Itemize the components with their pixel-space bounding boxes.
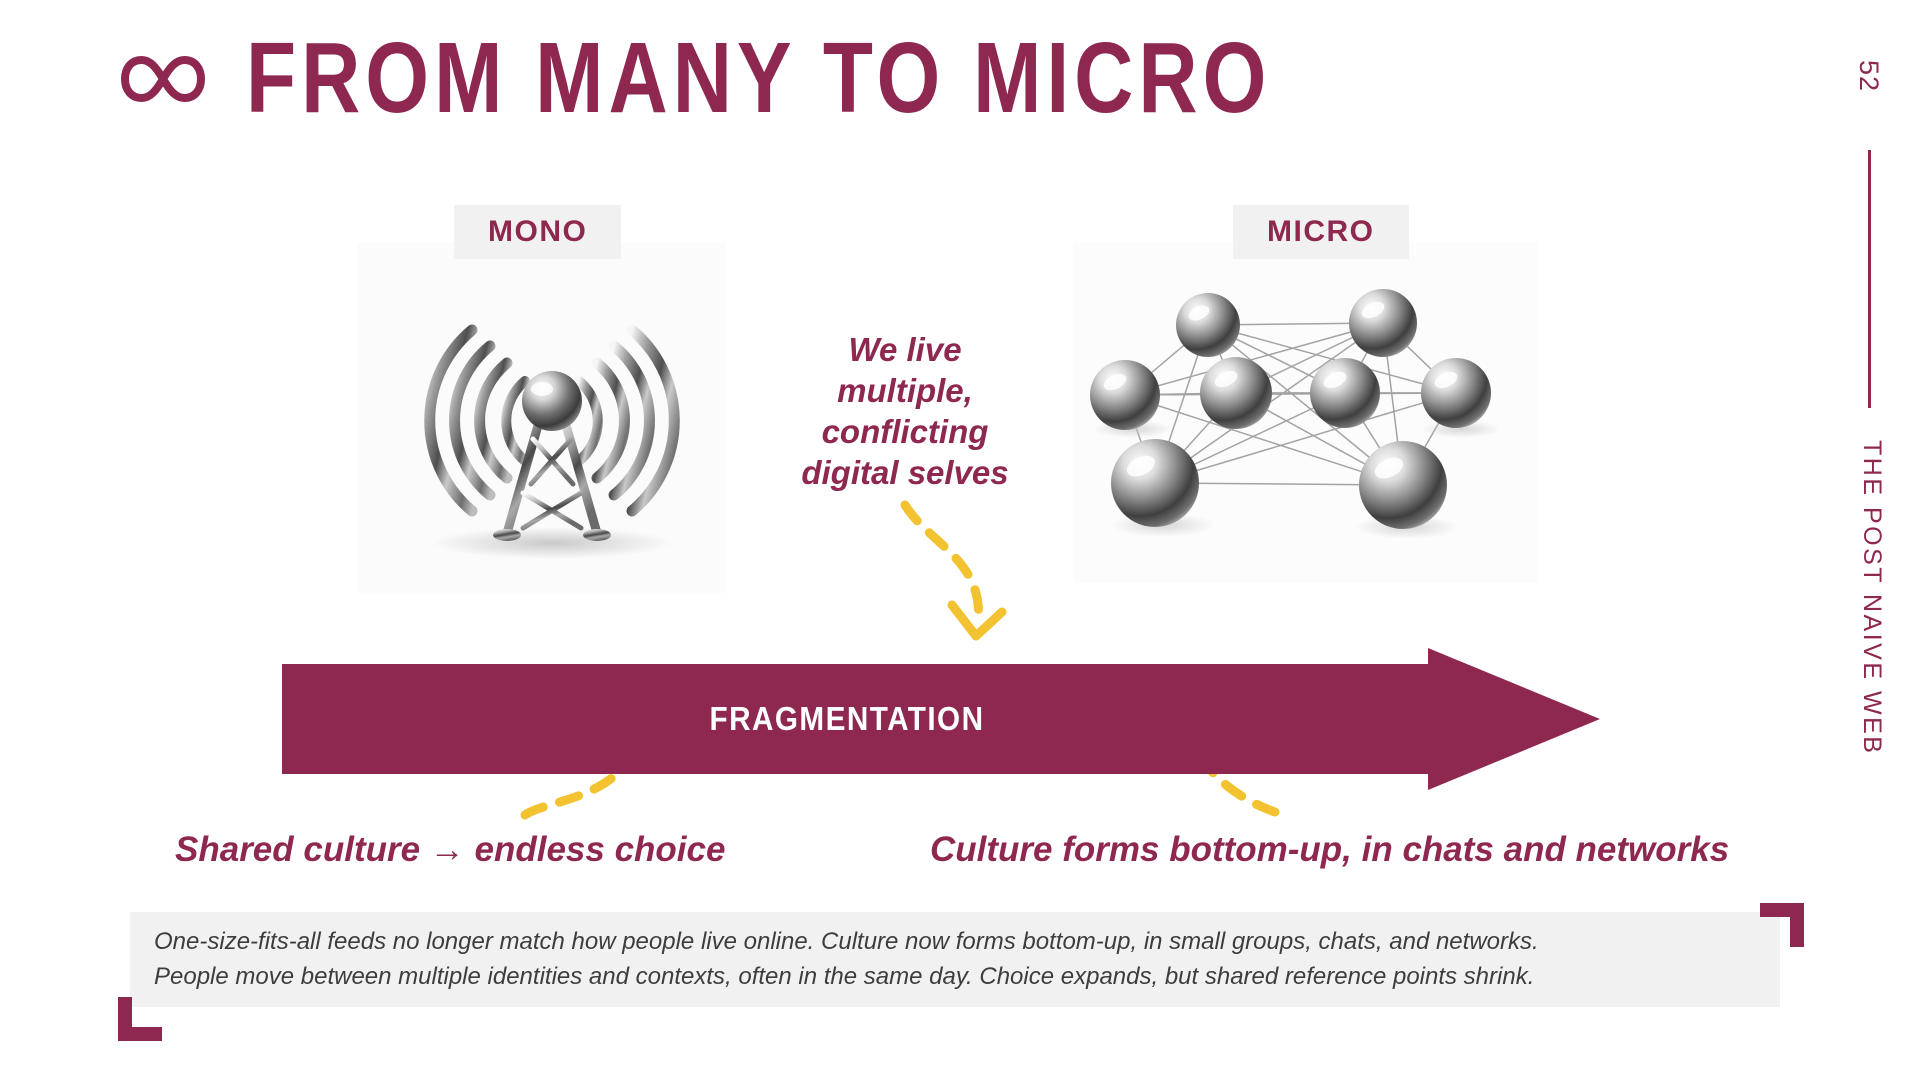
footer-text: One-size-fits-all feeds no longer match … xyxy=(130,925,1539,995)
infinity-icon xyxy=(120,48,206,110)
fragmentation-banner: FRAGMENTATION xyxy=(282,648,1600,790)
center-annotation: We live multiple, conflicting digital se… xyxy=(790,330,1020,494)
caption-left: Shared culture → endless choice xyxy=(175,830,725,870)
panel-tag-micro: MICRO xyxy=(1233,205,1409,259)
page-title: FROM MANY TO MICRO xyxy=(246,29,1271,129)
footer-panel: One-size-fits-all feeds no longer match … xyxy=(130,912,1780,1007)
corner-bracket-top-right xyxy=(1760,903,1804,947)
arrow-center-down xyxy=(905,505,1002,636)
side-rail: 52 THE POST NAIVE WEB xyxy=(1800,0,1920,1080)
slide-canvas: FROM MANY TO MICRO 52 THE POST NAIVE WEB… xyxy=(0,0,1920,1080)
slide-header: FROM MANY TO MICRO xyxy=(120,38,1271,120)
panel-micro: MICRO xyxy=(1073,205,1538,583)
panel-mono: MONO xyxy=(357,205,725,593)
footer-line-1: One-size-fits-all feeds no longer match … xyxy=(154,925,1539,960)
network-nodes-icon xyxy=(1073,243,1538,583)
broadcast-tower-icon xyxy=(357,243,725,593)
panel-tag-mono: MONO xyxy=(454,205,621,259)
banner-arrow-shape xyxy=(282,648,1600,790)
caption-right: Culture forms bottom-up, in chats and ne… xyxy=(930,830,1729,870)
page-number: 52 xyxy=(1853,60,1884,92)
corner-bracket-bottom-left xyxy=(118,997,162,1041)
rail-divider xyxy=(1868,150,1871,408)
deck-title: THE POST NAIVE WEB xyxy=(1857,440,1886,755)
footer-line-2: People move between multiple identities … xyxy=(154,960,1539,995)
